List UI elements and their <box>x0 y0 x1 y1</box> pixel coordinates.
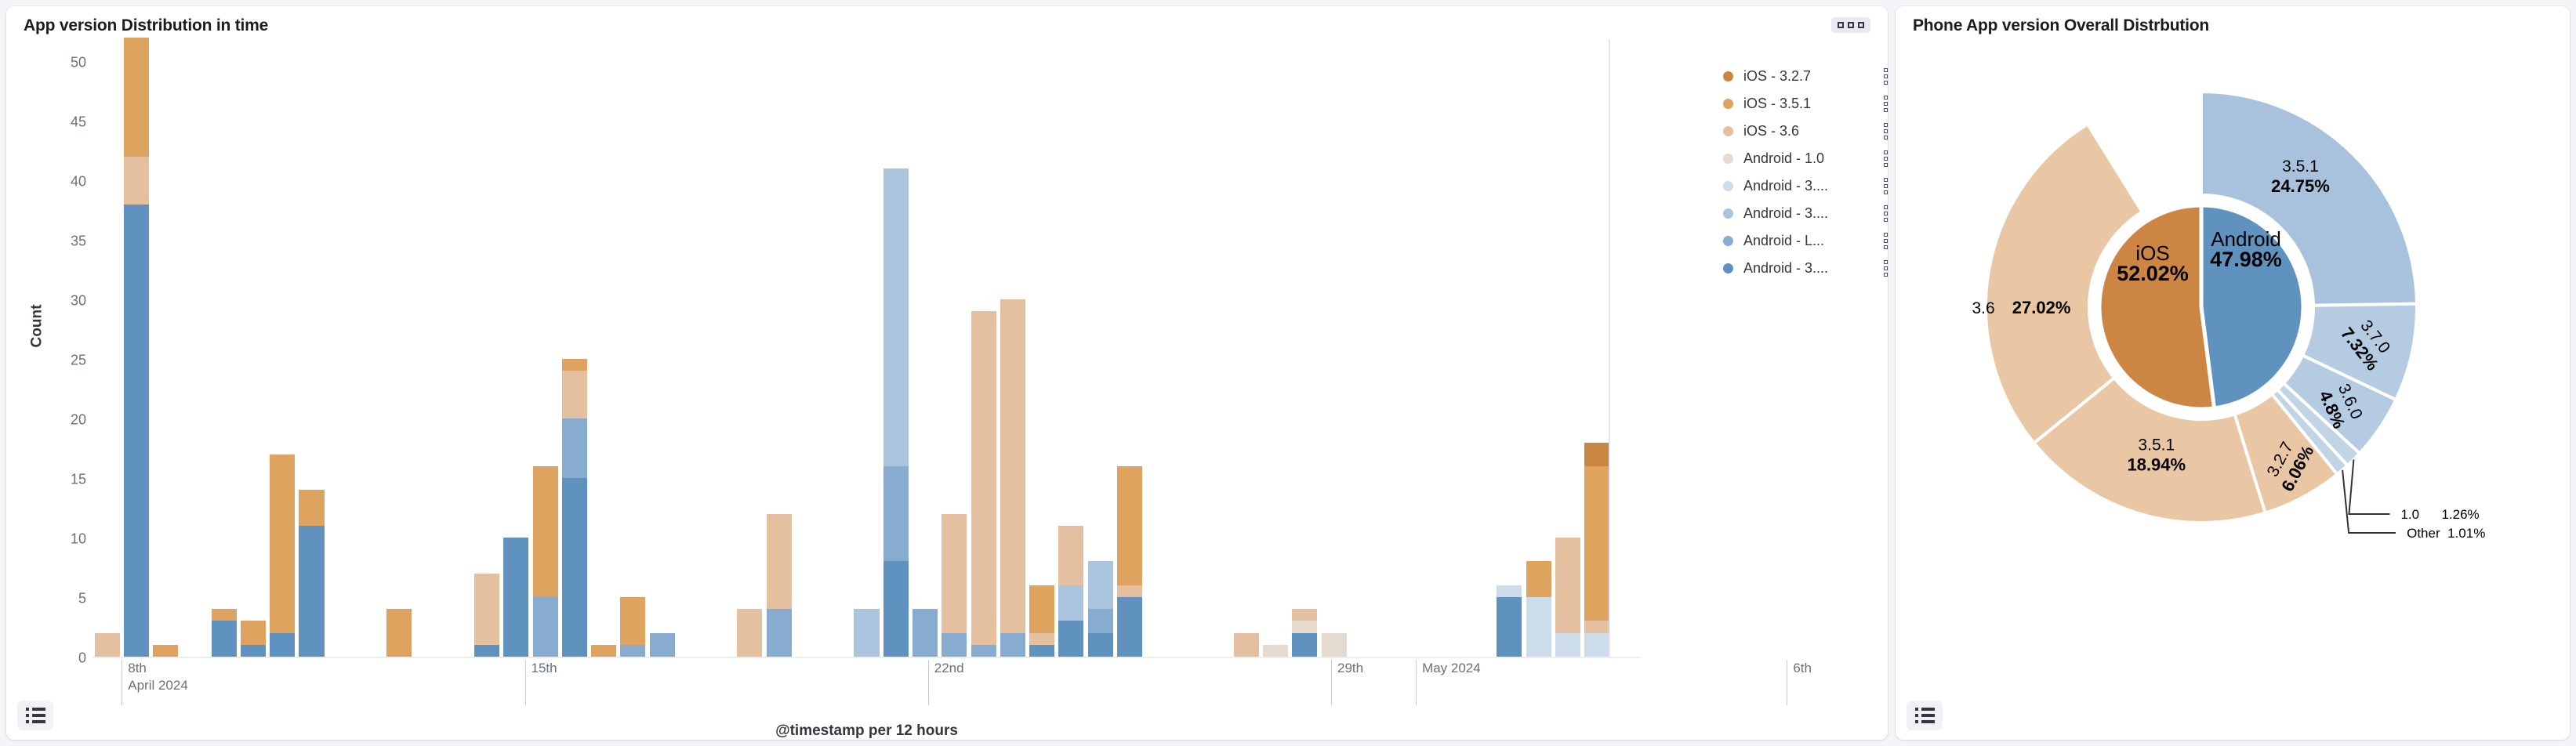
legend-item-menu-icon[interactable] <box>1884 205 1888 222</box>
y-tick-label: 10 <box>44 531 86 548</box>
y-tick-label: 30 <box>44 293 86 310</box>
bar-segment <box>620 597 645 645</box>
bar-segment <box>241 645 266 657</box>
bar-segment <box>1497 597 1522 657</box>
legend-swatch-icon <box>1723 71 1733 81</box>
bar-segment <box>1497 585 1522 597</box>
svg-text:3.5.1: 3.5.1 <box>2138 436 2175 454</box>
svg-text:18.94%: 18.94% <box>2127 455 2186 475</box>
legend-item-7[interactable]: Android - 3.... <box>1723 255 1888 282</box>
y-tick-label: 20 <box>44 412 86 429</box>
pie-callout-label: 1.01.26% <box>2400 507 2479 522</box>
svg-text:1.01%: 1.01% <box>2447 526 2485 541</box>
y-tick-label: 5 <box>44 591 86 607</box>
bar-segment <box>1292 633 1317 657</box>
y-tick-label: 50 <box>44 55 86 71</box>
x-tick-label: May 2024 <box>1416 660 1481 705</box>
plot-right-edge <box>1609 39 1610 658</box>
legend-item-3[interactable]: Android - 1.0 <box>1723 145 1888 172</box>
plot-area: 8thApril 202415th22nd29thMay 20246th <box>93 39 1641 658</box>
sunburst-chart: Android47.98%iOS52.02%3.5.124.75%3.7.07.… <box>1896 41 2570 707</box>
bar-column[interactable] <box>1555 538 1580 657</box>
bar-column[interactable] <box>620 597 645 657</box>
svg-text:24.75%: 24.75% <box>2271 176 2330 196</box>
bar-segment <box>474 645 499 657</box>
bar-segment <box>737 609 762 657</box>
bar-segment <box>854 609 879 657</box>
bar-segment <box>767 514 792 610</box>
bar-segment <box>1088 633 1113 657</box>
bar-column[interactable] <box>241 621 266 657</box>
legend-swatch-icon <box>1723 236 1733 246</box>
bar-column[interactable] <box>942 514 967 657</box>
bar-segment <box>1000 633 1025 657</box>
pie-slice-label: Android47.98% <box>2210 227 2282 271</box>
bar-segment <box>153 645 178 657</box>
legend-item-menu-icon[interactable] <box>1884 68 1888 85</box>
bar-column[interactable] <box>650 633 675 657</box>
bar-column[interactable] <box>533 466 558 657</box>
svg-text:1.26%: 1.26% <box>2441 507 2479 522</box>
bar-segment <box>1029 633 1054 645</box>
bar-column[interactable] <box>1584 443 1609 657</box>
dashboard-root: App version Distribution in time Count 0… <box>0 0 2576 746</box>
chart-legend: iOS - 3.2.7iOS - 3.5.1iOS - 3.6Android -… <box>1723 63 1888 282</box>
bar-column[interactable] <box>386 609 412 657</box>
bar-column[interactable] <box>299 490 324 657</box>
svg-text:3.5.1: 3.5.1 <box>2282 158 2319 176</box>
bar-column[interactable] <box>854 609 879 657</box>
bar-segment <box>533 597 558 657</box>
bar-column[interactable] <box>912 609 938 657</box>
bar-segment <box>95 633 120 657</box>
panel-menu-icon[interactable] <box>1831 17 1870 33</box>
panel-app-version-distribution: App version Distribution in time Count 0… <box>6 6 1888 740</box>
bar-segment <box>562 478 587 657</box>
bar-segment <box>474 574 499 645</box>
bar-segment <box>1584 443 1609 466</box>
bar-segment <box>562 418 587 478</box>
pie-callout-line <box>2349 459 2389 514</box>
bar-segment <box>1584 466 1609 621</box>
bar-segment <box>942 633 967 657</box>
bar-column[interactable] <box>1497 585 1522 657</box>
bar-segment <box>912 609 938 657</box>
y-tick-label: 25 <box>44 353 86 369</box>
bar-segment <box>1584 633 1609 657</box>
bar-column[interactable] <box>591 645 616 657</box>
bar-segment <box>971 645 996 657</box>
bar-segment <box>1555 633 1580 657</box>
bar-segment <box>620 645 645 657</box>
page-title: App version Distribution in time <box>24 16 268 35</box>
legend-list-icon[interactable] <box>17 701 53 730</box>
bar-column[interactable] <box>474 574 499 657</box>
bar-column[interactable] <box>503 538 528 657</box>
legend-item-label: iOS - 3.6 <box>1743 123 1879 139</box>
bar-segment <box>1029 585 1054 633</box>
bar-segment <box>971 311 996 644</box>
bar-segment <box>767 609 792 657</box>
legend-item-menu-icon[interactable] <box>1884 178 1888 194</box>
bar-segment <box>1584 621 1609 632</box>
bar-segment <box>212 621 237 657</box>
bar-column[interactable] <box>1088 561 1113 657</box>
bar-column[interactable] <box>1292 609 1317 657</box>
bar-column[interactable] <box>1234 633 1259 657</box>
bar-segment <box>1058 526 1083 585</box>
y-tick-label: 15 <box>44 472 86 488</box>
bar-column[interactable] <box>1029 585 1054 657</box>
bar-segment <box>270 454 295 633</box>
bar-chart: Count 05101520253035404550 8thApril 2024… <box>6 39 1888 740</box>
legend-item-label: iOS - 3.2.7 <box>1743 68 1879 85</box>
bar-segment <box>1234 633 1259 657</box>
panel-overall-distribution: Phone App version Overall Distrbution An… <box>1896 6 2570 740</box>
bar-segment <box>124 205 149 657</box>
menu-square-1 <box>1838 22 1844 28</box>
bar-segment <box>1263 645 1288 657</box>
bar-column[interactable] <box>124 38 149 657</box>
legend-item-label: iOS - 3.5.1 <box>1743 96 1879 112</box>
bar-segment <box>883 561 909 657</box>
x-axis-title: @timestamp per 12 hours <box>93 722 1641 740</box>
legend-item-menu-icon[interactable] <box>1884 260 1888 277</box>
bar-segment <box>1322 633 1347 657</box>
bar-column[interactable] <box>562 359 587 657</box>
bar-segment <box>562 371 587 418</box>
bar-segment <box>1292 621 1317 632</box>
bar-segment <box>1058 621 1083 657</box>
bar-column[interactable] <box>1117 466 1142 657</box>
legend-item-menu-icon[interactable] <box>1884 96 1888 112</box>
page-title-right: Phone App version Overall Distrbution <box>1913 16 2209 35</box>
bar-segment <box>241 621 266 644</box>
sunburst-svg: Android47.98%iOS52.02%3.5.124.75%3.7.07.… <box>1931 49 2534 675</box>
bar-segment <box>1555 538 1580 633</box>
bar-segment <box>1117 466 1142 585</box>
bar-column[interactable] <box>270 454 295 657</box>
bar-segment <box>503 538 528 657</box>
bar-segment <box>299 490 324 526</box>
x-axis-line <box>93 657 1641 658</box>
x-tick-label: 6th <box>1787 660 1812 705</box>
legend-item-label: Android - 3.... <box>1743 205 1879 222</box>
pie-callout-label: Other1.01% <box>2407 526 2485 541</box>
legend-item-2[interactable]: iOS - 3.6 <box>1723 118 1888 145</box>
bar-column[interactable] <box>1526 561 1551 657</box>
bar-column[interactable] <box>767 514 792 657</box>
legend-item-menu-icon[interactable] <box>1884 123 1888 139</box>
legend-swatch-icon <box>1723 263 1733 273</box>
bar-column[interactable] <box>971 311 996 657</box>
legend-item-label: Android - 3.... <box>1743 260 1879 277</box>
svg-text:47.98%: 47.98% <box>2210 248 2282 271</box>
bar-segment <box>533 466 558 597</box>
legend-swatch-icon <box>1723 154 1733 164</box>
bar-segment <box>942 514 967 633</box>
bar-column[interactable] <box>212 609 237 657</box>
legend-swatch-icon <box>1723 208 1733 219</box>
bar-column[interactable] <box>153 645 178 657</box>
bar-segment <box>650 633 675 657</box>
bar-segment <box>212 609 237 621</box>
bar-segment <box>1058 585 1083 621</box>
legend-item-1[interactable]: iOS - 3.5.1 <box>1723 90 1888 118</box>
svg-text:Other: Other <box>2407 526 2440 541</box>
bar-segment <box>1117 597 1142 657</box>
bar-column[interactable] <box>1322 633 1347 657</box>
bar-segment <box>883 168 909 466</box>
bar-segment <box>1117 585 1142 597</box>
x-tick-label: 15th <box>525 660 557 705</box>
x-tick-label: 22nd <box>928 660 964 705</box>
bar-segment <box>591 645 616 657</box>
legend-item-label: Android - L... <box>1743 233 1879 249</box>
svg-text:3.6: 3.6 <box>1972 299 1994 317</box>
bar-column[interactable] <box>883 168 909 657</box>
legend-swatch-icon <box>1723 126 1733 136</box>
x-tick-label: 29th <box>1331 660 1363 705</box>
legend-item-0[interactable]: iOS - 3.2.7 <box>1723 63 1888 90</box>
x-tick-label: 8thApril 2024 <box>122 660 188 705</box>
legend-item-menu-icon[interactable] <box>1884 233 1888 249</box>
bar-segment <box>1029 645 1054 657</box>
bar-column[interactable] <box>1000 299 1025 657</box>
legend-item-label: Android - 3.... <box>1743 178 1879 194</box>
bar-segment <box>883 466 909 562</box>
y-tick-label: 0 <box>44 650 86 667</box>
legend-swatch-icon <box>1723 99 1733 109</box>
bar-segment <box>1088 609 1113 632</box>
bar-segment <box>1526 597 1551 657</box>
legend-item-6[interactable]: Android - L... <box>1723 227 1888 255</box>
bar-column[interactable] <box>1058 526 1083 657</box>
pie-slice-label: 3.627.02% <box>1972 298 2070 317</box>
legend-item-5[interactable]: Android - 3.... <box>1723 200 1888 227</box>
bar-segment <box>1088 561 1113 609</box>
svg-text:52.02%: 52.02% <box>2117 262 2189 285</box>
y-axis-ticks: 05101520253035404550 <box>38 39 86 740</box>
legend-item-4[interactable]: Android - 3.... <box>1723 172 1888 200</box>
legend-item-menu-icon[interactable] <box>1884 150 1888 167</box>
bar-segment <box>1526 561 1551 597</box>
bar-segment <box>270 633 295 657</box>
bar-segment <box>124 38 149 157</box>
legend-swatch-icon <box>1723 181 1733 191</box>
svg-text:27.02%: 27.02% <box>2012 298 2071 317</box>
y-tick-label: 40 <box>44 174 86 190</box>
menu-square-2 <box>1848 22 1854 28</box>
bar-segment <box>1292 609 1317 621</box>
bar-column[interactable] <box>1263 645 1288 657</box>
bar-column[interactable] <box>737 609 762 657</box>
svg-text:1.0: 1.0 <box>2400 507 2419 522</box>
y-tick-label: 45 <box>44 114 86 131</box>
bar-segment <box>562 359 587 371</box>
bar-segment <box>386 609 412 657</box>
menu-square-3 <box>1858 22 1864 28</box>
y-tick-label: 35 <box>44 234 86 250</box>
legend-list-icon-right[interactable] <box>1907 701 1943 730</box>
bar-segment <box>124 157 149 205</box>
bar-column[interactable] <box>95 633 120 657</box>
bar-segment <box>299 526 324 657</box>
bar-segment <box>1000 299 1025 632</box>
legend-item-label: Android - 1.0 <box>1743 150 1879 167</box>
